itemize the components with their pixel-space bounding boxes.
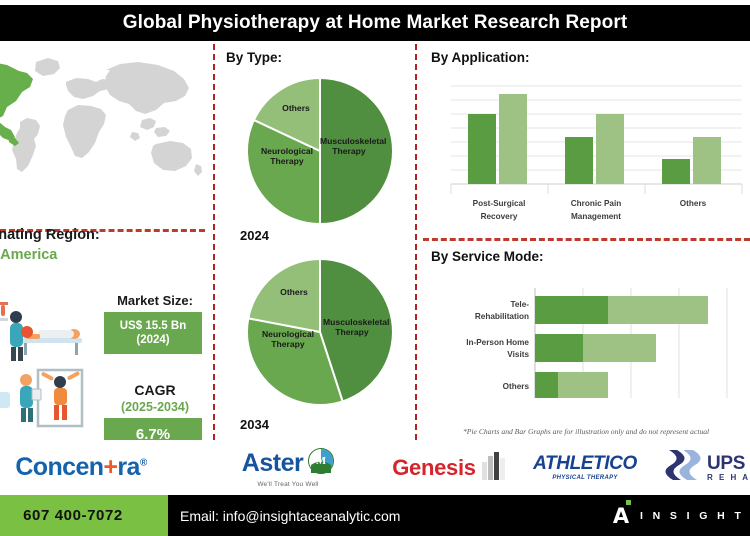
cagr-value-box: 6.7% (104, 418, 202, 440)
pie-2034-slice-label-musculoskeletal: Musculoskeletal Therapy (323, 317, 381, 338)
logo-upstream-rehab: UPS R E H A (665, 440, 750, 495)
infographic-root: Global Physiotherapy at Home Market Rese… (0, 0, 750, 536)
logo-aster: Aster M We'll Treat You Well (213, 440, 363, 495)
pie-2024-slice-label-musculoskeletal: Musculoskeletal Therapy (320, 136, 378, 157)
logo-genesis: Genesis (385, 440, 515, 495)
service-mode-bar-chart: Tele- Rehabilitation In-Person Home Visi… (425, 276, 750, 431)
athletico-text: ATHLETICO (533, 454, 637, 473)
pie-2024-year: 2024 (240, 228, 269, 243)
page-title: Global Physiotherapy at Home Market Rese… (0, 5, 750, 41)
pie-chart-2024: Musculoskeletal Therapy Neurological The… (245, 76, 395, 226)
pie-chart-2034: Musculoskeletal Therapy Neurological The… (245, 257, 395, 407)
market-size-value: US$ 15.5 Bn (120, 319, 186, 333)
region-value: North America (0, 247, 158, 263)
market-size-value-box: US$ 15.5 Bn (2024) (104, 312, 202, 354)
chart-footnote: *Pie Charts and Bar Graphs are for illus… (463, 427, 750, 436)
svg-text:Rehabilitation: Rehabilitation (475, 312, 529, 321)
pie-2024-slice-label-neurological: Neurological Therapy (258, 146, 316, 167)
footer-phone[interactable]: 607 400-7072 (0, 495, 168, 536)
footer-bar: 607 400-7072 Email: info@insightaceanaly… (0, 495, 750, 536)
athletico-tagline: PHYSICAL THERAPY (552, 475, 617, 481)
cagr-label: CAGR (100, 382, 210, 398)
right-panel: By Application: (415, 44, 750, 440)
pie-2034-slice-label-neurological: Neurological Therapy (259, 329, 317, 350)
svg-text:Post-Surgical: Post-Surgical (473, 199, 526, 208)
upstream-text: UPS (707, 454, 750, 473)
cagr-period: (2025-2034) (100, 400, 210, 414)
footer-brand: A I N S I G H T A C E A (610, 495, 750, 536)
insight-ace-a-icon: A (610, 503, 632, 529)
region-label: Dominating Region: (0, 227, 162, 243)
pie-2034-year: 2034 (240, 417, 269, 432)
svg-text:Management: Management (571, 212, 621, 221)
svg-text:Visits: Visits (507, 350, 529, 359)
aster-mark-icon: M (308, 448, 334, 479)
logo-concentra: Concen+ra® (0, 440, 176, 495)
concentra-text-1: Concen (15, 453, 103, 481)
pie-2024-slice-label-others: Others (275, 103, 317, 113)
physiotherapy-illustrations (0, 296, 100, 440)
pie-2034-slice-label-others: Others (273, 287, 315, 297)
market-size-label: Market Size: (100, 293, 210, 308)
genesis-text: Genesis (392, 455, 476, 481)
application-bar-chart: Post-Surgical Recovery Chronic Pain Mana… (443, 78, 750, 233)
region-panel: Dominating Region: North America (0, 44, 213, 440)
aster-tagline: We'll Treat You Well (257, 481, 318, 488)
world-map (0, 44, 210, 194)
svg-text:Others: Others (503, 382, 530, 391)
market-size-year: (2024) (136, 333, 169, 347)
by-type-panel: By Type: Musculoskeletal Therapy Neurolo… (213, 44, 415, 440)
concentra-text-2: ra (117, 453, 139, 481)
by-application-title: By Application: (431, 50, 530, 65)
svg-text:M: M (316, 455, 327, 467)
aster-text: Aster (242, 451, 303, 476)
svg-text:Tele-: Tele- (510, 300, 529, 309)
logo-athletico: ATHLETICO PHYSICAL THERAPY (510, 440, 660, 495)
genesis-mark-icon (482, 450, 508, 485)
header-bar: Global Physiotherapy at Home Market Rese… (0, 5, 750, 41)
svg-text:Recovery: Recovery (481, 212, 518, 221)
svg-text:In-Person Home: In-Person Home (466, 338, 529, 347)
footer-email[interactable]: Email: info@insightaceanalytic.com (180, 495, 400, 536)
footer-brand-text: I N S I G H T A C E A (640, 510, 750, 522)
by-type-title: By Type: (226, 50, 282, 65)
upstream-mark-icon (665, 448, 701, 487)
client-logos-strip: Concen+ra® Aster M We'll Treat You Well … (0, 440, 750, 495)
svg-text:Others: Others (680, 199, 707, 208)
svg-text:Chronic Pain: Chronic Pain (571, 199, 622, 208)
by-service-mode-title: By Service Mode: (431, 249, 544, 264)
cagr-value: 6.7% (136, 426, 170, 440)
upstream-sub: R E H A (707, 473, 750, 482)
